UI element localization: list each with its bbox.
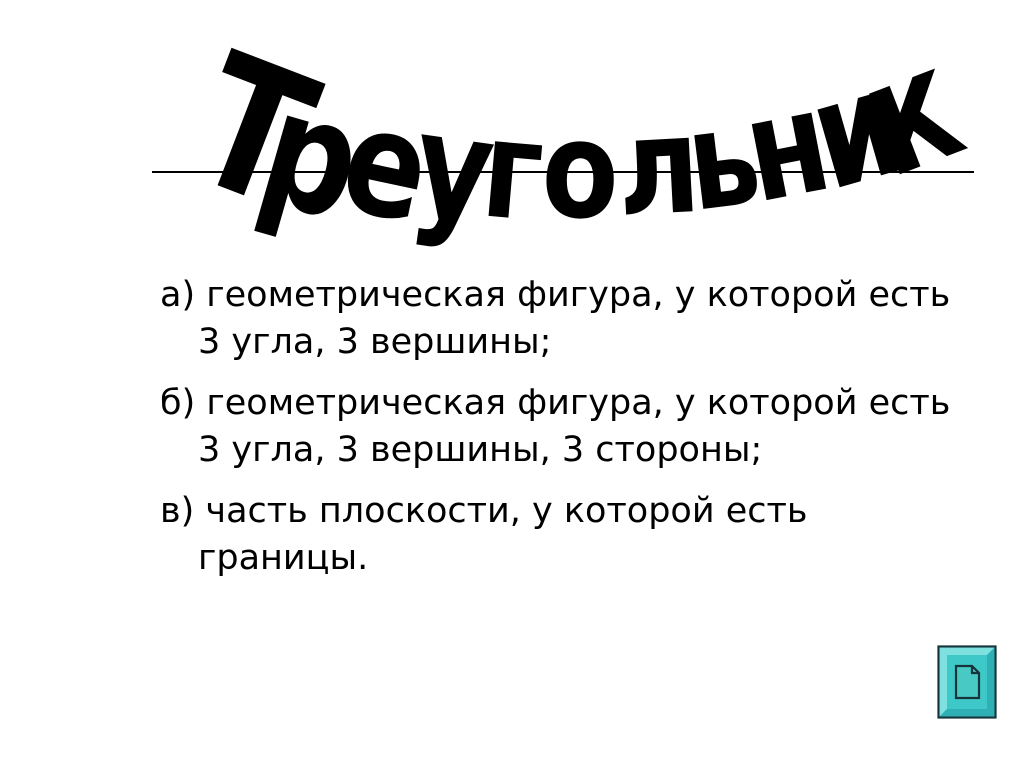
wordart-letters: Т р е у г о л ь н и к	[167, 11, 983, 250]
slide-canvas: Т р е у г о л ь н и к а) геометрическая …	[0, 0, 1024, 768]
title-area: Т р е у г о л ь н и к	[0, 0, 1024, 250]
list-item: б) геометрическая фигура, у которой есть…	[160, 380, 980, 474]
page-glyph	[956, 666, 979, 698]
wordart-letter-4: г	[476, 88, 549, 250]
wordart-letter-5: о	[540, 92, 620, 250]
document-icon[interactable]	[937, 645, 997, 719]
page-title: Т р е у г о л ь н и к	[0, 0, 1024, 250]
list-item: а) геометрическая фигура, у которой есть…	[160, 272, 980, 366]
definition-list: а) геометрическая фигура, у которой есть…	[160, 272, 980, 596]
list-item: в) часть плоскости, у которой есть грани…	[160, 488, 980, 582]
